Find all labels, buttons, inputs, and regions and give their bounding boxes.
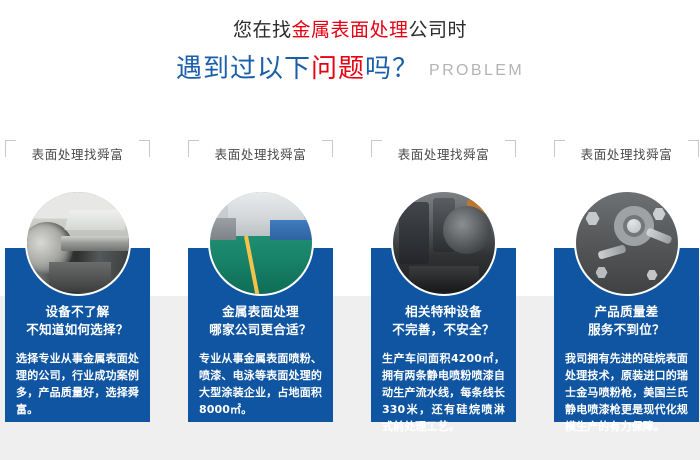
headline-line1-prefix: 您在找	[233, 19, 292, 41]
photo-accent	[467, 200, 485, 214]
photo-accent	[597, 244, 626, 259]
photo-accent	[49, 262, 111, 292]
headline-line2-suffix: 吗？	[365, 54, 419, 84]
photo-accent	[210, 218, 236, 240]
problem-card[interactable]: 表面处理找舜富 相关特种设备 不完善，不安全？ 生产车间面积4200㎡，拥有两条…	[371, 138, 516, 428]
card-photo	[391, 190, 497, 296]
card-title-line-2: 不完善，不安全？	[382, 321, 505, 339]
card-photo	[208, 190, 314, 296]
lathe-machine-photo	[27, 192, 129, 294]
card-title-line-1: 金属表面处理	[199, 303, 322, 321]
card-badge: 表面处理找舜富	[188, 138, 333, 172]
card-body-text: 选择专业从事金属表面处理的公司，行业成功案例多，产品质量好，选择舜富。	[16, 350, 139, 418]
headline-line2-highlight: 问题	[311, 54, 365, 84]
photo-accent	[64, 210, 128, 230]
card-badge-label: 表面处理找舜富	[554, 146, 699, 164]
page-headline: 您在找金属表面处理公司时 遇到过以下问题吗？PROBLEM	[0, 16, 700, 88]
card-title-line-2: 服务不到位？	[565, 321, 688, 339]
bolts-fasteners-photo	[576, 192, 678, 294]
photo-accent	[653, 208, 666, 220]
problem-card[interactable]: 表面处理找舜富 设备不了解 不知道如何选择？ 选择专业从事金属表面处理的公司，行…	[5, 138, 150, 428]
problem-card[interactable]: 表面处理找舜富 金属表面处理 哪家公司更合适？ 专业从事金属表面喷粉、喷漆、电泳…	[188, 138, 333, 428]
problem-cards-row: 表面处理找舜富 设备不了解 不知道如何选择？ 选择专业从事金属表面处理的公司，行…	[5, 138, 698, 428]
card-text-block: 金属表面处理 哪家公司更合适？ 专业从事金属表面喷粉、喷漆、电泳等表面处理的大型…	[188, 303, 333, 418]
headline-line1-suffix: 公司时	[409, 19, 468, 41]
card-body-text: 专业从事金属表面喷粉、喷漆、电泳等表面处理的大型涂装企业，占地面积8000㎡。	[199, 350, 322, 418]
headline-line-1: 您在找金属表面处理公司时	[0, 16, 700, 44]
card-body-text: 我司拥有先进的硅烷表面处理技术，原装进口的瑞士金马喷粉枪，美国兰氏静电喷漆枪更是…	[565, 350, 688, 435]
card-text-block: 相关特种设备 不完善，不安全？ 生产车间面积4200㎡，拥有两条静电喷粉喷漆自动…	[371, 303, 516, 435]
headline-line2-prefix: 遇到过以下	[176, 54, 311, 84]
photo-accent	[409, 266, 479, 292]
card-title-line-1: 设备不了解	[16, 303, 139, 321]
factory-corridor-photo	[210, 192, 312, 294]
headline-english-label: PROBLEM	[429, 62, 524, 79]
card-badge-label: 表面处理找舜富	[5, 146, 150, 164]
headline-line-2: 遇到过以下问题吗？PROBLEM	[0, 53, 700, 88]
card-badge-label: 表面处理找舜富	[188, 146, 333, 164]
photo-accent	[647, 270, 658, 280]
card-badge: 表面处理找舜富	[554, 138, 699, 172]
card-photo	[574, 190, 680, 296]
photo-accent	[645, 227, 672, 244]
photo-accent	[433, 198, 455, 252]
card-body-text: 生产车间面积4200㎡，拥有两条静电喷粉喷漆自动生产流水线，每条线长330米，还…	[382, 350, 505, 435]
card-title-line-1: 产品质量差	[565, 303, 688, 321]
metal-parts-fixture-photo	[393, 192, 495, 294]
card-title-line-2: 哪家公司更合适？	[199, 321, 322, 339]
card-text-block: 产品质量差 服务不到位？ 我司拥有先进的硅烷表面处理技术，原装进口的瑞士金马喷粉…	[554, 303, 699, 435]
card-title-line-2: 不知道如何选择？	[16, 321, 139, 339]
card-badge-label: 表面处理找舜富	[371, 146, 516, 164]
card-photo	[25, 190, 131, 296]
card-title-line-1: 相关特种设备	[382, 303, 505, 321]
card-badge: 表面处理找舜富	[5, 138, 150, 172]
card-text-block: 设备不了解 不知道如何选择？ 选择专业从事金属表面处理的公司，行业成功案例多，产…	[5, 303, 150, 418]
photo-accent	[596, 267, 608, 278]
problem-card[interactable]: 表面处理找舜富 产品质量差 服务不到位？ 我司拥有先进的硅烷表面处理技术，原装进…	[554, 138, 699, 428]
photo-accent	[270, 220, 312, 240]
card-badge: 表面处理找舜富	[371, 138, 516, 172]
headline-line1-highlight: 金属表面处理	[291, 19, 408, 41]
